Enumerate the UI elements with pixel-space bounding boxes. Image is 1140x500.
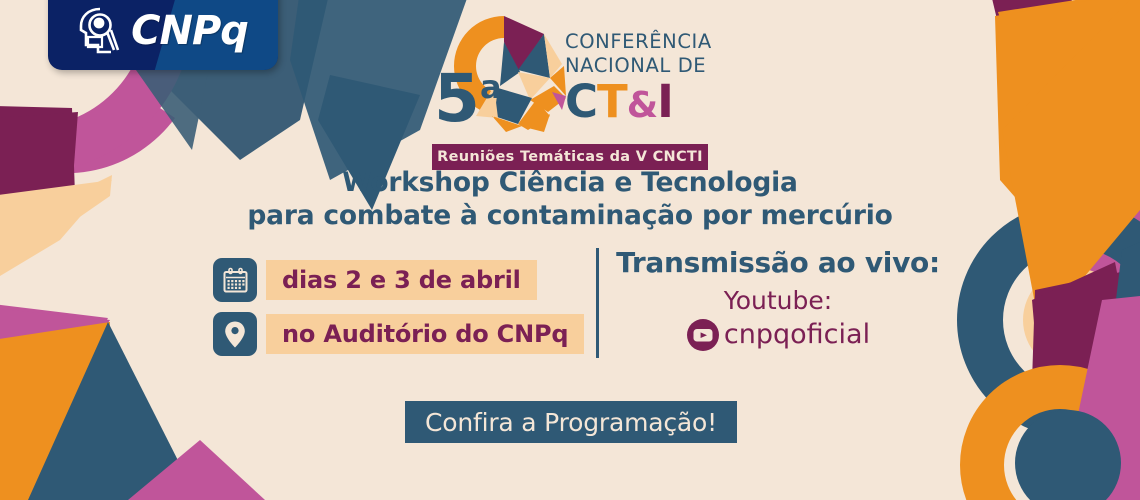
event-title-line-2: para combate à contaminação por mercúrio xyxy=(0,199,1140,232)
live-stream-handle-row[interactable]: cnpqoficial xyxy=(608,318,948,352)
conference-ribbon: Reuniões Temáticas da V CNCTI xyxy=(432,144,708,170)
event-date-text: dias 2 e 3 de abril xyxy=(282,266,521,294)
location-pin-icon-box xyxy=(213,312,257,356)
cnpq-logo-card[interactable]: CNPq xyxy=(48,0,278,70)
event-location-pill: no Auditório do CNPq xyxy=(266,314,584,354)
acronym-c: C xyxy=(565,75,597,128)
programme-cta-button[interactable]: Confira a Programação! xyxy=(405,401,737,443)
event-location-text: no Auditório do CNPq xyxy=(282,320,568,348)
conference-acronym: CT&I xyxy=(565,79,725,129)
live-stream-heading: Transmissão ao vivo: xyxy=(608,246,948,280)
event-title-line-1: Workshop Ciência e Tecnologia xyxy=(0,166,1140,199)
conference-line-1: CONFERÊNCIA xyxy=(565,30,725,54)
event-banner: CNPq 5a CONFERÊNCIA xyxy=(0,0,1140,500)
edition-ordinal: a xyxy=(480,68,502,106)
youtube-icon[interactable] xyxy=(686,318,720,352)
programme-cta-label: Confira a Programação! xyxy=(425,408,717,437)
location-pin-icon xyxy=(223,320,247,349)
event-date-row: dias 2 e 3 de abril xyxy=(213,258,584,302)
cnpq-wordmark: CNPq xyxy=(131,8,248,54)
calendar-icon xyxy=(222,267,249,294)
live-stream-block: Transmissão ao vivo: Youtube: cnpqoficia… xyxy=(608,246,948,352)
live-stream-handle[interactable]: cnpqoficial xyxy=(724,319,870,351)
ribbon-label: Reuniões Temáticas da V CNCTI xyxy=(437,149,703,165)
vertical-divider xyxy=(596,248,599,358)
event-date-pill: dias 2 e 3 de abril xyxy=(266,260,537,300)
conference-logo: 5a CONFERÊNCIA NACIONAL DE CT&I Reuniões… xyxy=(432,12,720,164)
acronym-t: T xyxy=(597,75,627,128)
cnpq-head-icon xyxy=(78,6,124,56)
edition-number: 5a xyxy=(434,66,502,132)
event-location-row: no Auditório do CNPq xyxy=(213,312,584,356)
acronym-i: I xyxy=(657,75,673,128)
event-title: Workshop Ciência e Tecnologia para comba… xyxy=(0,166,1140,232)
acronym-ampersand: & xyxy=(627,85,657,126)
live-stream-platform: Youtube: xyxy=(608,286,948,316)
edition-digit: 5 xyxy=(434,60,480,137)
calendar-icon-box xyxy=(213,258,257,302)
event-details: dias 2 e 3 de abril no Auditório do CNPq xyxy=(213,258,584,366)
